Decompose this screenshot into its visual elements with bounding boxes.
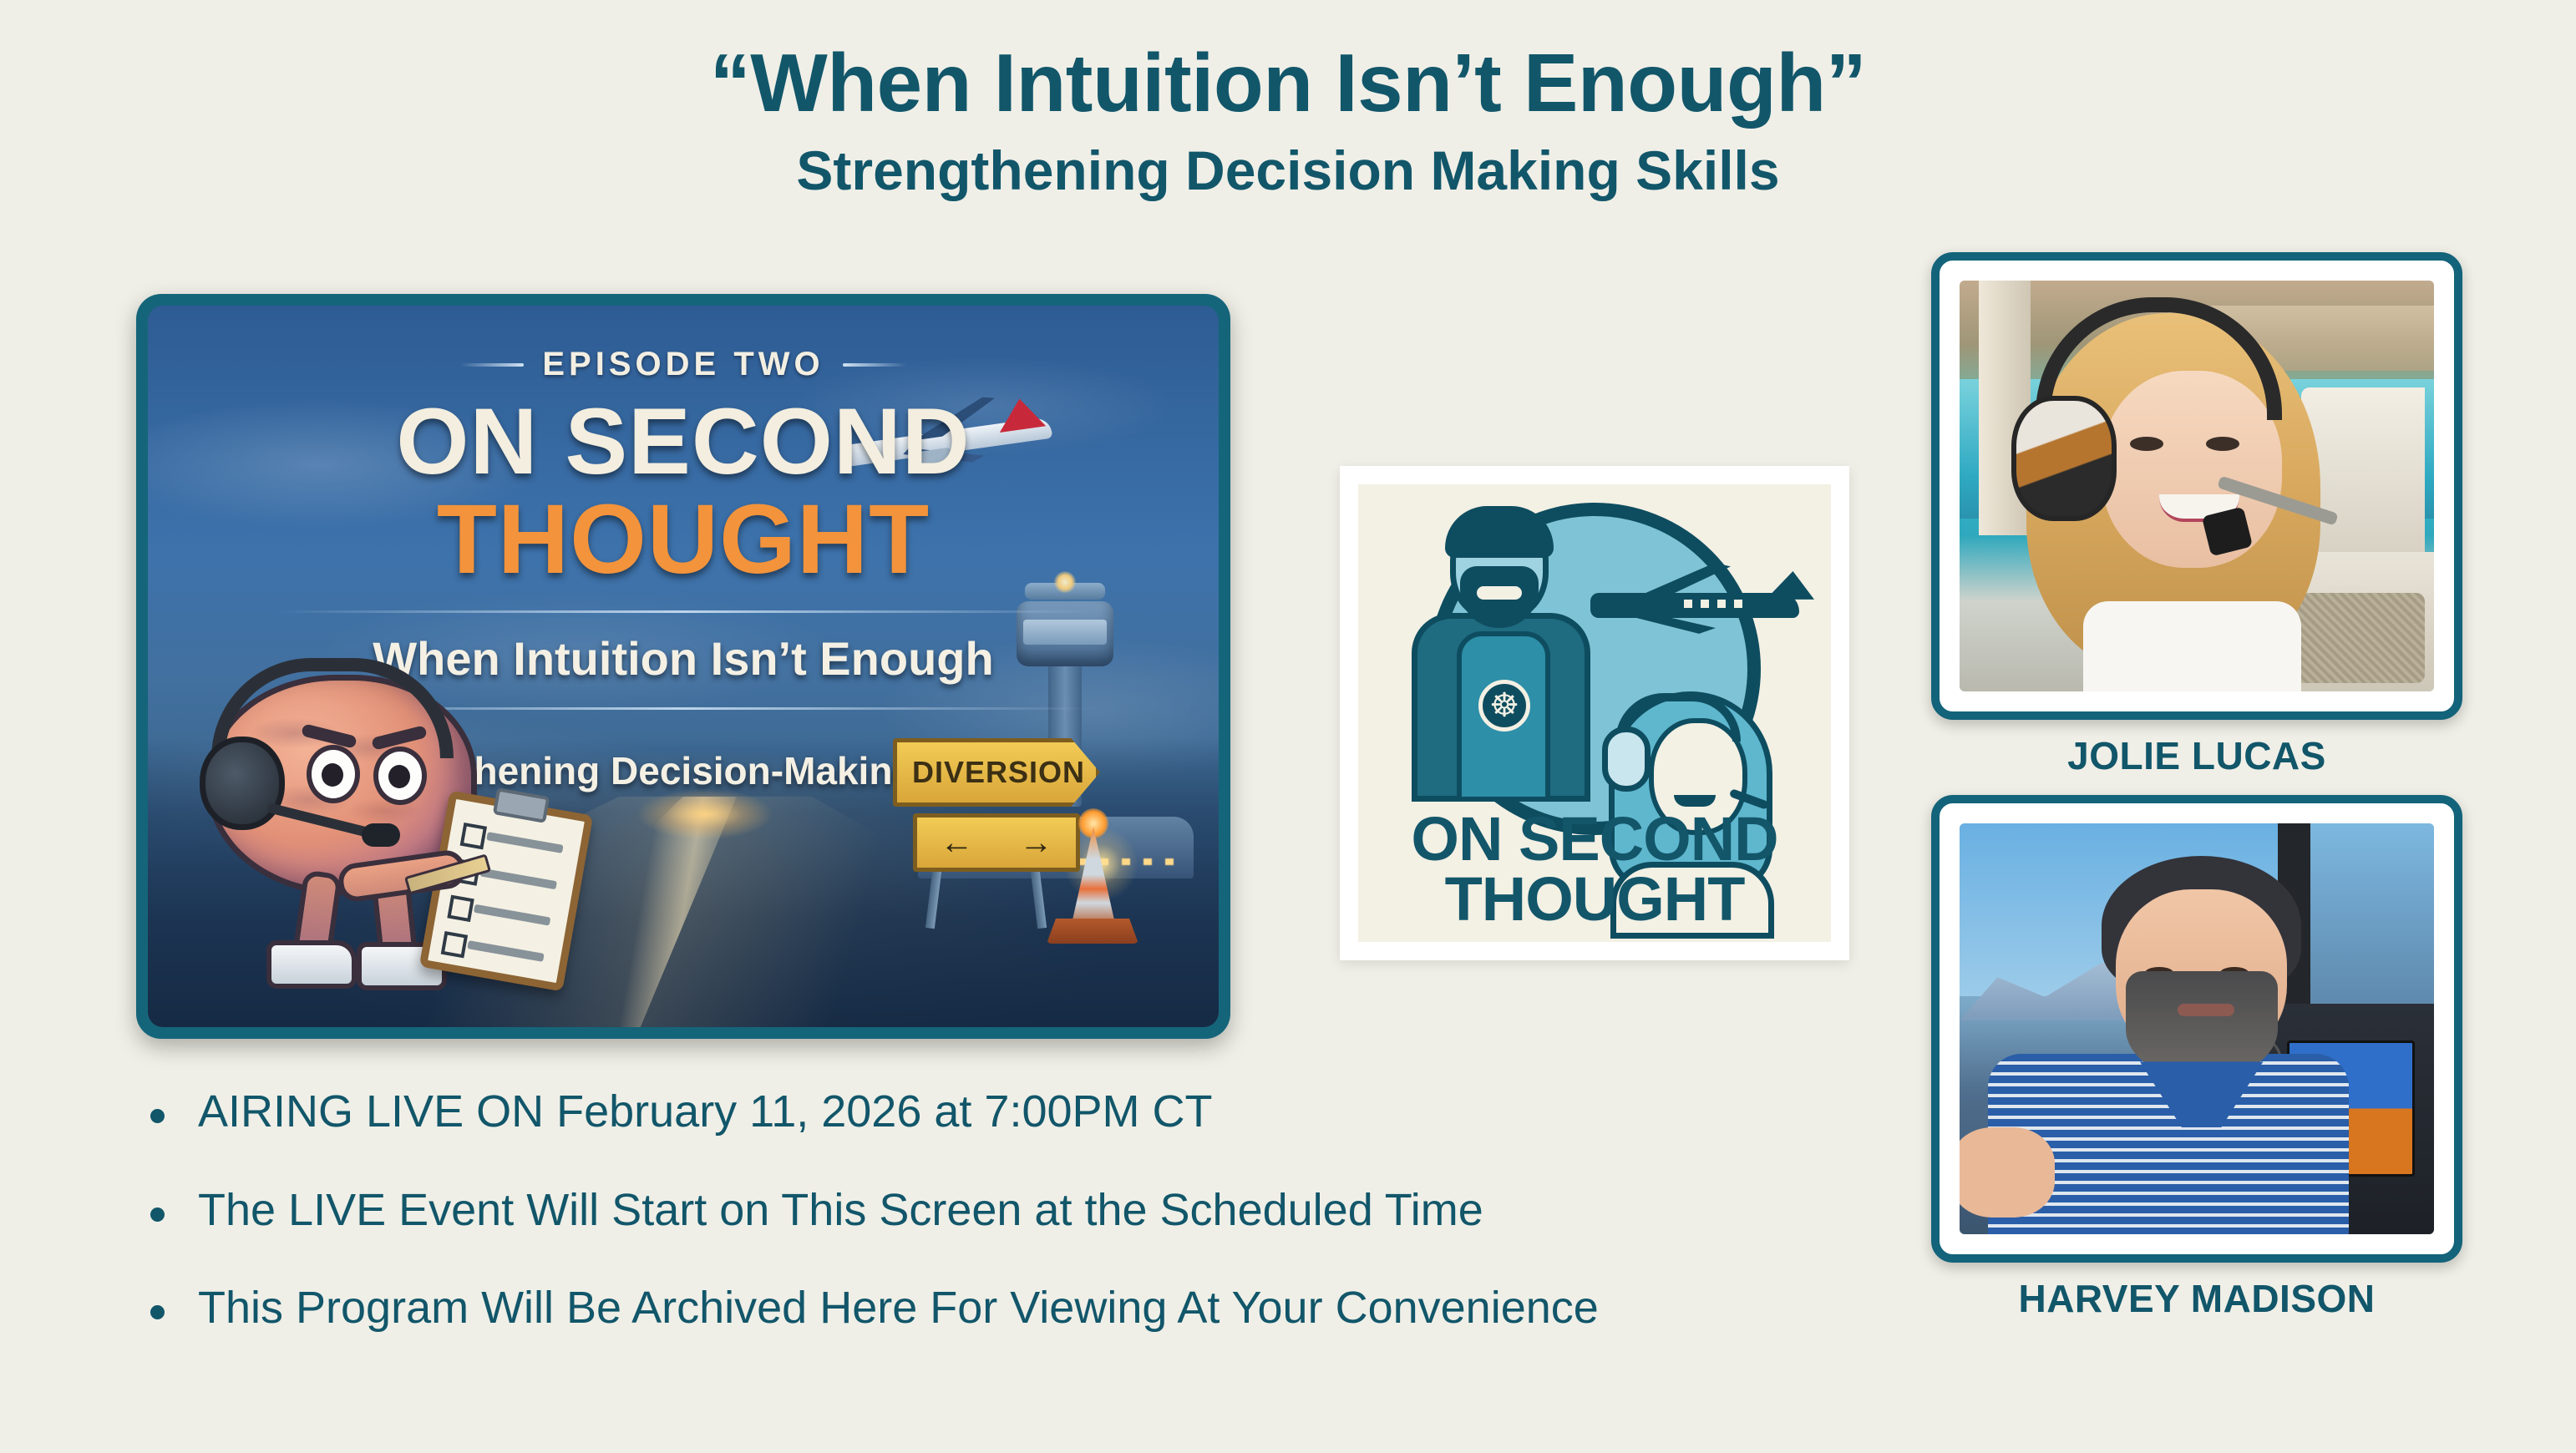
podcast-logo-card[interactable]: ☸ ON SECOND THOUGHT	[1340, 466, 1849, 960]
list-item: The LIVE Event Will Start on This Screen…	[150, 1184, 1871, 1238]
bullet-dot-icon	[150, 1305, 165, 1319]
artwork-divider-top	[276, 610, 1090, 613]
artwork-scene: EPISODE TWO ON SECOND THOUGHT When Intui…	[148, 306, 1219, 1027]
list-item: This Program Will Be Archived Here For V…	[150, 1282, 1871, 1335]
logo-wordmark: ON SECOND THOUGHT	[1358, 809, 1831, 930]
logo-line-1: ON SECOND	[1358, 809, 1831, 870]
bullet-dot-icon	[150, 1207, 165, 1222]
brain-mascot-icon	[186, 638, 545, 997]
clipboard-icon	[419, 791, 594, 992]
episode-label: EPISODE TWO	[542, 346, 824, 383]
slide-canvas: “When Intuition Isn’t Enough” Strengthen…	[0, 0, 2576, 1453]
logo-line-2: THOUGHT	[1358, 869, 1831, 930]
host-name-label: JOLIE LUCAS	[1931, 733, 2462, 778]
page-header: “When Intuition Isn’t Enough” Strengthen…	[0, 40, 2576, 202]
host-photo-harvey-madison	[1960, 823, 2434, 1234]
page-title: “When Intuition Isn’t Enough”	[0, 40, 2576, 127]
page-subtitle: Strengthening Decision Making Skills	[0, 140, 2576, 202]
bullet-text: This Program Will Be Archived Here For V…	[198, 1282, 1599, 1335]
episode-label-row: EPISODE TWO	[460, 346, 905, 383]
runway-glow	[638, 789, 772, 839]
podcast-logo-art: ☸ ON SECOND THOUGHT	[1358, 484, 1831, 942]
arrow-left-icon: ←	[941, 826, 974, 859]
diversion-sign-plate: DIVERSION	[893, 738, 1100, 807]
artwork-show-line1: ON SECOND	[148, 395, 1219, 489]
photo-frame	[1931, 252, 2462, 720]
diversion-sign: DIVERSION ← →	[893, 730, 1132, 947]
list-item: AIRING LIVE ON February 11, 2026 at 7:00…	[150, 1086, 1871, 1139]
logo-host-male-illustration: ☸	[1412, 506, 1590, 800]
host-card-harvey-madison[interactable]: HARVEY MADISON	[1931, 795, 2462, 1321]
business-jet-icon	[1590, 554, 1816, 655]
episode-rule-left	[460, 363, 524, 367]
diversion-sign-text: DIVERSION	[897, 755, 1085, 790]
host-card-jolie-lucas[interactable]: JOLIE LUCAS	[1931, 252, 2462, 778]
episode-rule-right	[843, 363, 906, 367]
bullet-text: The LIVE Event Will Start on This Screen…	[198, 1184, 1483, 1238]
bullet-dot-icon	[150, 1109, 165, 1123]
host-photo-jolie-lucas	[1960, 281, 2434, 691]
bullet-list: AIRING LIVE ON February 11, 2026 at 7:00…	[150, 1086, 1871, 1380]
bullet-text: AIRING LIVE ON February 11, 2026 at 7:00…	[198, 1086, 1213, 1139]
artwork-show-line2: THOUGHT	[148, 490, 1219, 589]
photo-frame	[1931, 795, 2462, 1263]
traffic-cone-icon	[1047, 818, 1138, 944]
host-name-label: HARVEY MADISON	[1931, 1276, 2462, 1321]
episode-artwork[interactable]: EPISODE TWO ON SECOND THOUGHT When Intui…	[136, 294, 1230, 1039]
triskelion-emblem-icon: ☸	[1478, 680, 1530, 732]
